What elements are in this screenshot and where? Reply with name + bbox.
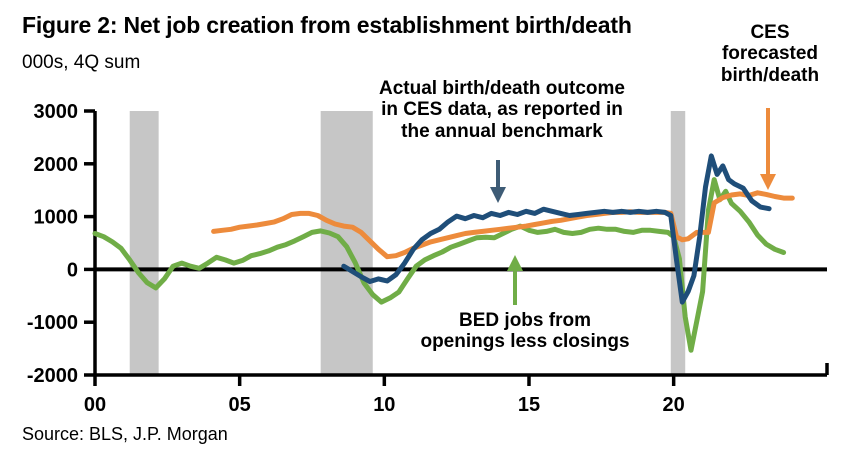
annotation-bed-jobs: BED jobs from openings less closings (396, 310, 654, 353)
y-axis-tick-label: 3000 (34, 101, 79, 123)
x-axis-tick-label: 15 (518, 394, 540, 416)
x-axis-tick-label: 00 (84, 394, 106, 416)
arrow-actual-outcome-head (490, 187, 506, 203)
recession-band (130, 111, 159, 375)
figure-container: Figure 2: Net job creation from establis… (0, 0, 852, 459)
arrow-ces-forecast-head (760, 174, 776, 190)
y-axis-tick-label: 1000 (34, 207, 79, 229)
arrow-bed-jobs-head (507, 255, 523, 271)
y-axis-tick-label: 0 (67, 259, 78, 281)
annotation-ces-forecast: CES forecasted birth/death (700, 22, 840, 86)
source-note: Source: BLS, J.P. Morgan (22, 424, 228, 445)
x-axis-tick-label: 05 (229, 394, 251, 416)
y-axis-tick-label: -2000 (27, 365, 78, 387)
x-axis-tick-label: 10 (373, 394, 395, 416)
y-axis-tick-label: 2000 (34, 154, 79, 176)
x-axis-tick-label: 20 (663, 394, 685, 416)
annotation-actual-outcome: Actual birth/death outcome in CES data, … (352, 78, 652, 142)
y-axis-tick-label: -1000 (27, 312, 78, 334)
